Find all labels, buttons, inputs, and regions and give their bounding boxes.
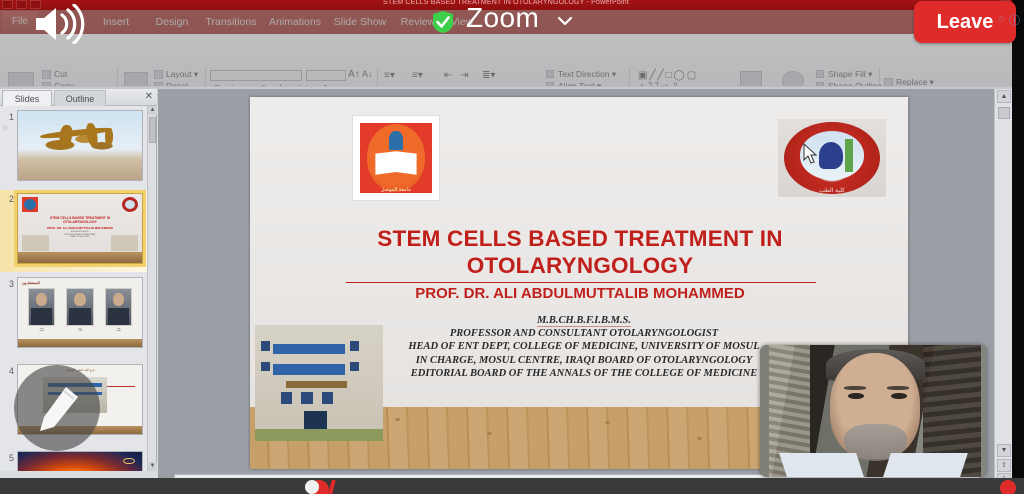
- close-icon[interactable]: ✕: [145, 91, 153, 103]
- calligraphy-art: [30, 121, 129, 161]
- thumb-wood-floor: [18, 339, 142, 347]
- home-icon[interactable]: ⌂: [999, 13, 1004, 23]
- tab-slides[interactable]: Slides: [2, 90, 52, 106]
- panel-scroll-up-button[interactable]: ▲: [148, 106, 157, 115]
- annotate-dot-icon[interactable]: [305, 480, 319, 494]
- list-item[interactable]: 5: [0, 451, 148, 471]
- thumb-building-left: [22, 235, 49, 250]
- title-underline: [346, 282, 816, 283]
- thumb-logo-left: [22, 197, 38, 212]
- thumb-building-right: [111, 235, 138, 250]
- portrait-2: [66, 288, 93, 327]
- sub-line-3: IN CHARGE, MOSUL CENTRE, IRAQI BOARD OF …: [416, 355, 753, 366]
- thumb-logo-right: [122, 197, 138, 212]
- scroll-down-button[interactable]: ▼: [997, 444, 1011, 457]
- help-circle-icon[interactable]: ⓘ: [1009, 12, 1020, 28]
- tab-outline[interactable]: Outline: [54, 90, 106, 106]
- sub-line-4: EDITORIAL BOARD OF THE ANNALS OF THE COL…: [411, 368, 757, 379]
- participant-brow-right: [887, 386, 910, 390]
- list-item[interactable]: 1 ☆: [0, 110, 148, 187]
- university-of-mosul-logo[interactable]: جامعة الموصل: [352, 115, 440, 201]
- scroll-up-button[interactable]: ▲: [997, 90, 1011, 103]
- portrait-1: [28, 288, 55, 327]
- slide-author[interactable]: PROF. DR. ALI ABDULMUTTALIB MOHAMMED: [310, 285, 850, 302]
- thumb-rule: [107, 386, 134, 388]
- list-item[interactable]: 3 المستشارون اسماللقب اسماللقب: [0, 277, 148, 354]
- slide-number: 3: [2, 279, 14, 289]
- title-line-1: STEM CELLS BASED TREATMENT IN: [377, 226, 782, 251]
- college-building-photo[interactable]: [255, 325, 383, 441]
- slide-title[interactable]: STEM CELLS BASED TREATMENT IN OTOLARYNGO…: [310, 225, 850, 279]
- slide-thumbnail-2[interactable]: STEM CELLS BASED TREATMENT INOTOLARYNGOL…: [17, 193, 143, 264]
- app-icon[interactable]: [2, 0, 13, 9]
- pencil-annotate-icon[interactable]: [14, 365, 100, 451]
- record-indicator-icon[interactable]: [1000, 480, 1016, 494]
- college-of-medicine-logo[interactable]: كلية الطب: [778, 119, 886, 197]
- participant-eye-left: [848, 393, 864, 400]
- chevron-down-icon[interactable]: [556, 12, 574, 30]
- sub-line-2: HEAD OF ENT DEPT, COLLEGE OF MEDICINE, U…: [408, 341, 759, 352]
- animation-star-icon: ☆: [2, 124, 8, 132]
- panel-scroll-down-button[interactable]: ▼: [148, 462, 157, 471]
- slide-number: 5: [2, 453, 14, 463]
- logo-open-book-icon: [375, 151, 416, 175]
- portrait-caption-3: اسماللقب: [105, 328, 132, 332]
- screen: STEM CELLS BASED TREATMENT IN OTOLARYNGO…: [0, 0, 1024, 494]
- panel-tabs: Slides Outline ✕: [0, 89, 157, 106]
- zoom-toolbar[interactable]: [0, 478, 1024, 494]
- portrait-caption-1: اسماللقب: [28, 328, 55, 332]
- participant-brow-left: [844, 386, 867, 390]
- portrait-3: [105, 288, 132, 327]
- building-sign: [286, 381, 347, 388]
- list-item[interactable]: 2 STEM CELLS BASED TREATMENT INOTOLARYNG…: [0, 190, 148, 272]
- participant-collar-left: [779, 453, 864, 477]
- sub-line-1: PROFESSOR AND CONSULTANT OTOLARYNGOLOGIS…: [450, 328, 718, 339]
- portrait-caption-2: اسماللقب: [66, 328, 93, 332]
- thumb-wood-floor: [18, 252, 142, 263]
- slide-thumbnail-3[interactable]: المستشارون اسماللقب اسماللقب اسماللقب: [17, 277, 143, 348]
- participant-video-tile[interactable]: [760, 345, 986, 477]
- highlighter-icon[interactable]: [328, 480, 335, 494]
- slide-number: 4: [2, 366, 14, 376]
- logo-caduceus-icon: [845, 139, 853, 172]
- title-line-2: OTOLARYNGOLOGY: [467, 253, 694, 278]
- participant-eye-right: [891, 393, 907, 400]
- zoom-meeting-title: Zoom: [466, 2, 539, 34]
- slide-scrollbar[interactable]: ▲ ▼ ⇧ ⇩: [994, 89, 1012, 494]
- speaker-unmuted-icon[interactable]: [30, 4, 86, 44]
- logo-eagle-icon: [819, 142, 843, 169]
- slide-number: 2: [2, 194, 14, 204]
- logo-dome-icon: [389, 131, 403, 149]
- slide-number: 1: [2, 112, 14, 122]
- save-quick-icon[interactable]: [16, 0, 27, 9]
- previous-slide-button[interactable]: ⇧: [997, 459, 1011, 472]
- thumb-title: STEM CELLS BASED TREATMENT INOTOLARYNGOL…: [33, 216, 127, 225]
- thumb-subtext: M.B.CH.B.F.I.B.M.S.PROFESSOR AND CONSULT…: [55, 231, 105, 242]
- slide-thumbnail-5[interactable]: [17, 451, 143, 471]
- logo-arabic-text: كلية الطب: [778, 187, 886, 194]
- mouse-cursor: [803, 143, 819, 170]
- panel-scrollbar[interactable]: ▲ ▼: [147, 106, 156, 471]
- thumb-heading: المستشارون: [22, 281, 40, 285]
- right-gutter: [1012, 0, 1024, 494]
- logo-arabic-text: جامعة الموصل: [368, 187, 423, 193]
- credentials-line: M.B.CH.B.F.I.B.M.S.: [537, 315, 631, 327]
- green-shield-check-icon[interactable]: [432, 10, 454, 34]
- slide-thumbnail-1[interactable]: [17, 110, 143, 181]
- scroll-thumb[interactable]: [998, 107, 1010, 119]
- panel-scroll-thumb[interactable]: [149, 117, 156, 143]
- thumb-author: PROF. DR. ALI ABDULMUTTALIB MOHAMMED: [33, 226, 127, 230]
- thumb-marker: [123, 458, 134, 464]
- ribbon-dim-overlay: [0, 34, 1012, 86]
- participant-collar-right: [883, 453, 968, 477]
